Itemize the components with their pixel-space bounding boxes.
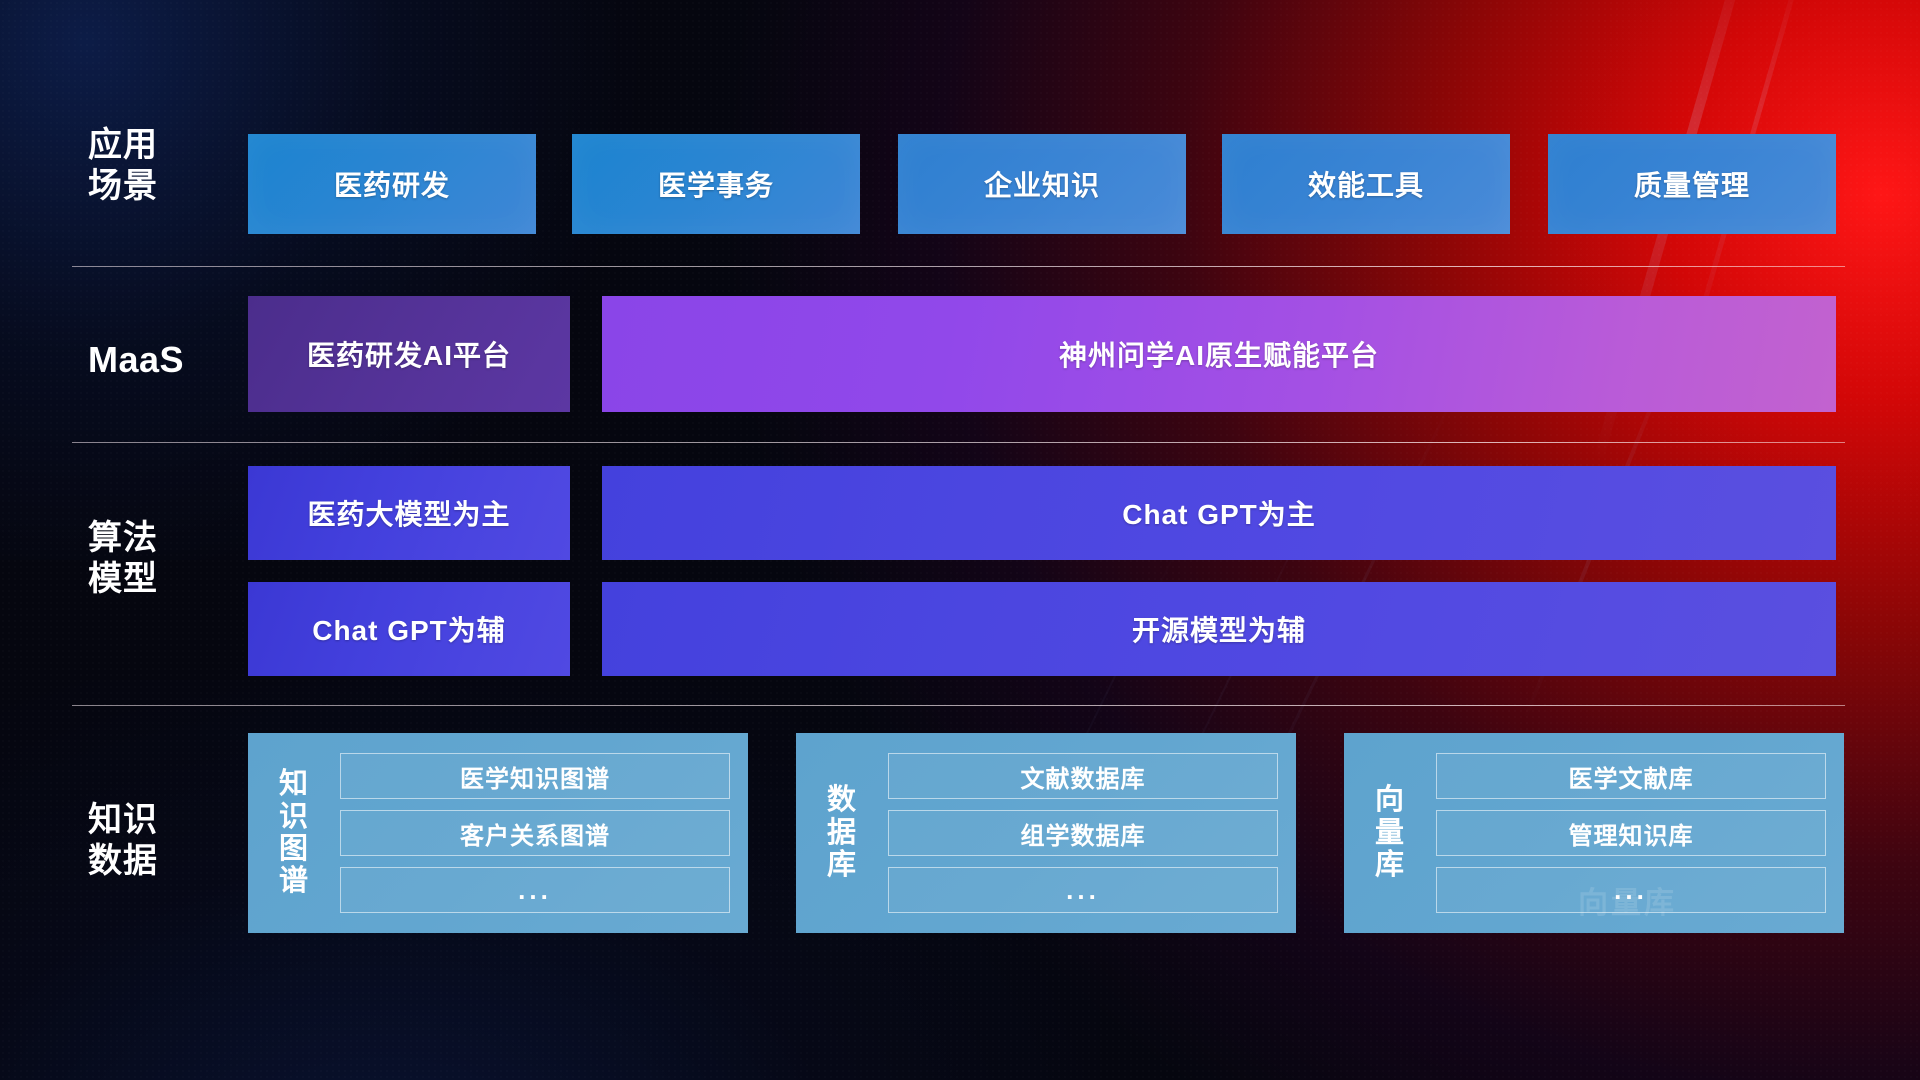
knowledge-card-label-graph: 知识图谱 bbox=[248, 768, 340, 898]
knowledge-card-label-vector: 向量库 bbox=[1344, 784, 1436, 881]
knowledge-item-more[interactable]: ... bbox=[1436, 867, 1826, 913]
app-scenario-label-2: 医学事务 bbox=[658, 164, 774, 204]
knowledge-item[interactable]: 组学数据库 bbox=[888, 810, 1278, 856]
app-scenario-box-5[interactable]: 质量管理 bbox=[1548, 134, 1836, 234]
model-box-medical-llm-primary[interactable]: 医药大模型为主 bbox=[248, 466, 570, 560]
knowledge-item[interactable]: 医学知识图谱 bbox=[340, 753, 730, 799]
maas-box-medical-ai-platform[interactable]: 医药研发AI平台 bbox=[248, 296, 570, 412]
maas-box-shenzhou-wenxue-platform[interactable]: 神州问学AI原生赋能平台 bbox=[602, 296, 1836, 412]
maas-label-1: 医药研发AI平台 bbox=[307, 334, 511, 374]
app-scenario-box-3[interactable]: 企业知识 bbox=[898, 134, 1186, 234]
app-scenario-box-4[interactable]: 效能工具 bbox=[1222, 134, 1510, 234]
knowledge-item[interactable]: 文献数据库 bbox=[888, 753, 1278, 799]
row-label-application-scenarios: 应用 场景 bbox=[88, 125, 238, 208]
row-label-algorithm-model: 算法 模型 bbox=[88, 518, 238, 601]
app-scenario-label-4: 效能工具 bbox=[1308, 164, 1424, 204]
model-label-4: 开源模型为辅 bbox=[1132, 609, 1306, 649]
app-scenario-box-2[interactable]: 医学事务 bbox=[572, 134, 860, 234]
app-scenario-label-3: 企业知识 bbox=[984, 164, 1100, 204]
diagram-canvas: 应用 场景 医药研发 医学事务 企业知识 效能工具 质量管理 MaaS 医药研发… bbox=[0, 0, 1920, 1080]
knowledge-card-database[interactable]: 数据库 文献数据库 组学数据库 ... bbox=[796, 733, 1296, 933]
knowledge-card-label-database: 数据库 bbox=[796, 784, 888, 881]
model-box-chatgpt-primary[interactable]: Chat GPT为主 bbox=[602, 466, 1836, 560]
knowledge-item-more[interactable]: ... bbox=[340, 867, 730, 913]
row-label-knowledge-data: 知识 数据 bbox=[88, 800, 238, 883]
model-label-3: Chat GPT为辅 bbox=[312, 609, 506, 649]
model-label-2: Chat GPT为主 bbox=[1122, 493, 1316, 533]
model-box-opensource-secondary[interactable]: 开源模型为辅 bbox=[602, 582, 1836, 676]
model-box-chatgpt-secondary[interactable]: Chat GPT为辅 bbox=[248, 582, 570, 676]
row-divider-1 bbox=[72, 266, 1845, 267]
knowledge-card-vector[interactable]: 向量库 医学文献库 管理知识库 ... bbox=[1344, 733, 1844, 933]
knowledge-item[interactable]: 管理知识库 bbox=[1436, 810, 1826, 856]
knowledge-card-items-database: 文献数据库 组学数据库 ... bbox=[888, 753, 1282, 913]
row-label-maas: MaaS bbox=[88, 338, 238, 382]
model-label-1: 医药大模型为主 bbox=[307, 493, 510, 533]
row-divider-3 bbox=[72, 705, 1845, 706]
knowledge-card-items-graph: 医学知识图谱 客户关系图谱 ... bbox=[340, 753, 734, 913]
row-divider-2 bbox=[72, 442, 1845, 443]
knowledge-item[interactable]: 医学文献库 bbox=[1436, 753, 1826, 799]
knowledge-item-more[interactable]: ... bbox=[888, 867, 1278, 913]
knowledge-item[interactable]: 客户关系图谱 bbox=[340, 810, 730, 856]
app-scenario-box-1[interactable]: 医药研发 bbox=[248, 134, 536, 234]
knowledge-card-graph[interactable]: 知识图谱 医学知识图谱 客户关系图谱 ... bbox=[248, 733, 748, 933]
app-scenario-label-1: 医药研发 bbox=[334, 164, 450, 204]
knowledge-card-items-vector: 医学文献库 管理知识库 ... bbox=[1436, 753, 1830, 913]
maas-label-2: 神州问学AI原生赋能平台 bbox=[1059, 334, 1379, 374]
app-scenario-label-5: 质量管理 bbox=[1634, 164, 1750, 204]
